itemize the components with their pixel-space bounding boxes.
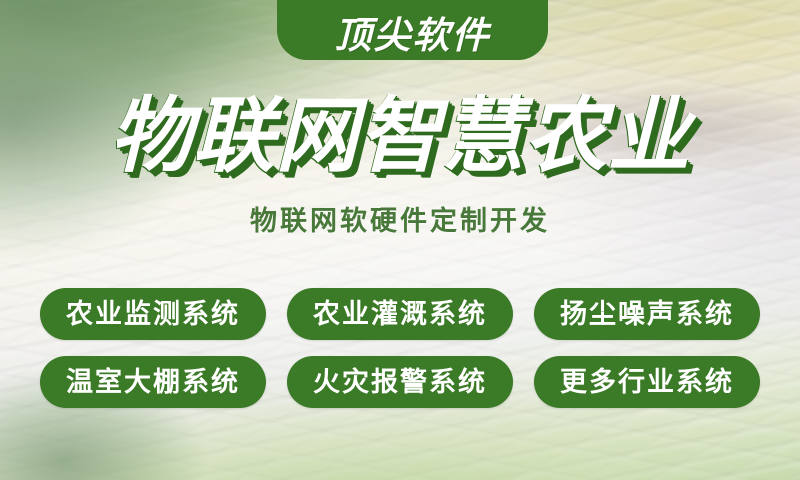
pill-agriculture-irrigation[interactable]: 农业灌溉系统	[287, 288, 513, 340]
pill-agriculture-monitoring[interactable]: 农业监测系统	[40, 288, 266, 340]
brand-badge-label: 顶尖软件	[335, 17, 491, 54]
pill-label: 农业监测系统	[66, 301, 240, 328]
pill-more-industries[interactable]: 更多行业系统	[534, 356, 760, 408]
pill-label: 更多行业系统	[560, 369, 734, 396]
brand-badge: 顶尖软件	[277, 0, 548, 60]
pill-dust-noise[interactable]: 扬尘噪声系统	[534, 288, 760, 340]
system-pill-grid: 农业监测系统 农业灌溉系统 扬尘噪声系统 温室大棚系统 火灾报警系统 更多行业系…	[40, 288, 760, 408]
pill-label: 火灾报警系统	[313, 369, 487, 396]
page-title: 物联网智慧农业	[0, 96, 800, 178]
banner-content: 顶尖软件 物联网智慧农业 物联网软硬件定制开发 农业监测系统 农业灌溉系统 扬尘…	[0, 0, 800, 480]
pill-greenhouse[interactable]: 温室大棚系统	[40, 356, 266, 408]
promo-banner: 顶尖软件 物联网智慧农业 物联网软硬件定制开发 农业监测系统 农业灌溉系统 扬尘…	[0, 0, 800, 480]
pill-fire-alarm[interactable]: 火灾报警系统	[287, 356, 513, 408]
page-subtitle: 物联网软硬件定制开发	[0, 208, 800, 235]
pill-label: 温室大棚系统	[66, 369, 240, 396]
pill-label: 农业灌溉系统	[313, 301, 487, 328]
pill-label: 扬尘噪声系统	[560, 301, 734, 328]
